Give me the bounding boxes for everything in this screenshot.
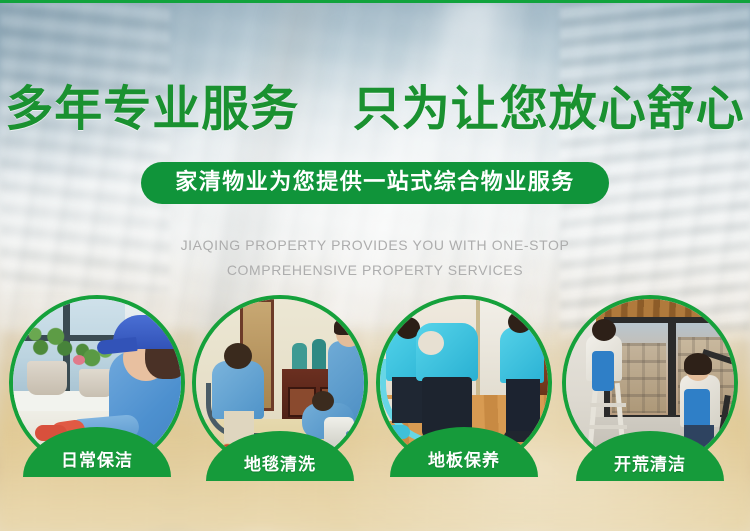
service-card-carpet-cleaning[interactable]: 地毯清洗 — [192, 295, 368, 471]
promo-banner: 多年专业服务 只为让您放心舒心 家清物业为您提供一站式综合物业服务 JIAQIN… — [0, 0, 750, 531]
service-card-floor-maintenance[interactable]: 地板保养 — [376, 295, 552, 471]
service-card-label-text: 开荒清洁 — [576, 455, 724, 475]
service-card-label-text: 地板保养 — [390, 451, 538, 471]
service-card-post-renovation-cleaning[interactable]: 开荒清洁 — [562, 295, 738, 471]
english-subtitle-line-2: COMPREHENSIVE PROPERTY SERVICES — [0, 258, 750, 283]
top-accent-rule — [0, 0, 750, 3]
headline-left-phrase: 多年专业服务 — [5, 81, 299, 137]
headline-right-phrase: 只为让您放心舒心 — [353, 81, 745, 137]
service-card-label-text: 日常保洁 — [23, 451, 171, 471]
english-subtitle-line-1: JIAQING PROPERTY PROVIDES YOU WITH ONE-S… — [0, 233, 750, 258]
headline: 多年专业服务 只为让您放心舒心 — [0, 80, 750, 138]
english-subtitle: JIAQING PROPERTY PROVIDES YOU WITH ONE-S… — [0, 233, 750, 283]
tagline-pill: 家清物业为您提供一站式综合物业服务 — [141, 162, 609, 204]
tagline-pill-container: 家清物业为您提供一站式综合物业服务 — [0, 162, 750, 204]
service-card-label-text: 地毯清洗 — [206, 455, 354, 475]
service-card-row: 日常保洁 — [0, 295, 750, 531]
service-card-daily-cleaning[interactable]: 日常保洁 — [9, 295, 185, 471]
